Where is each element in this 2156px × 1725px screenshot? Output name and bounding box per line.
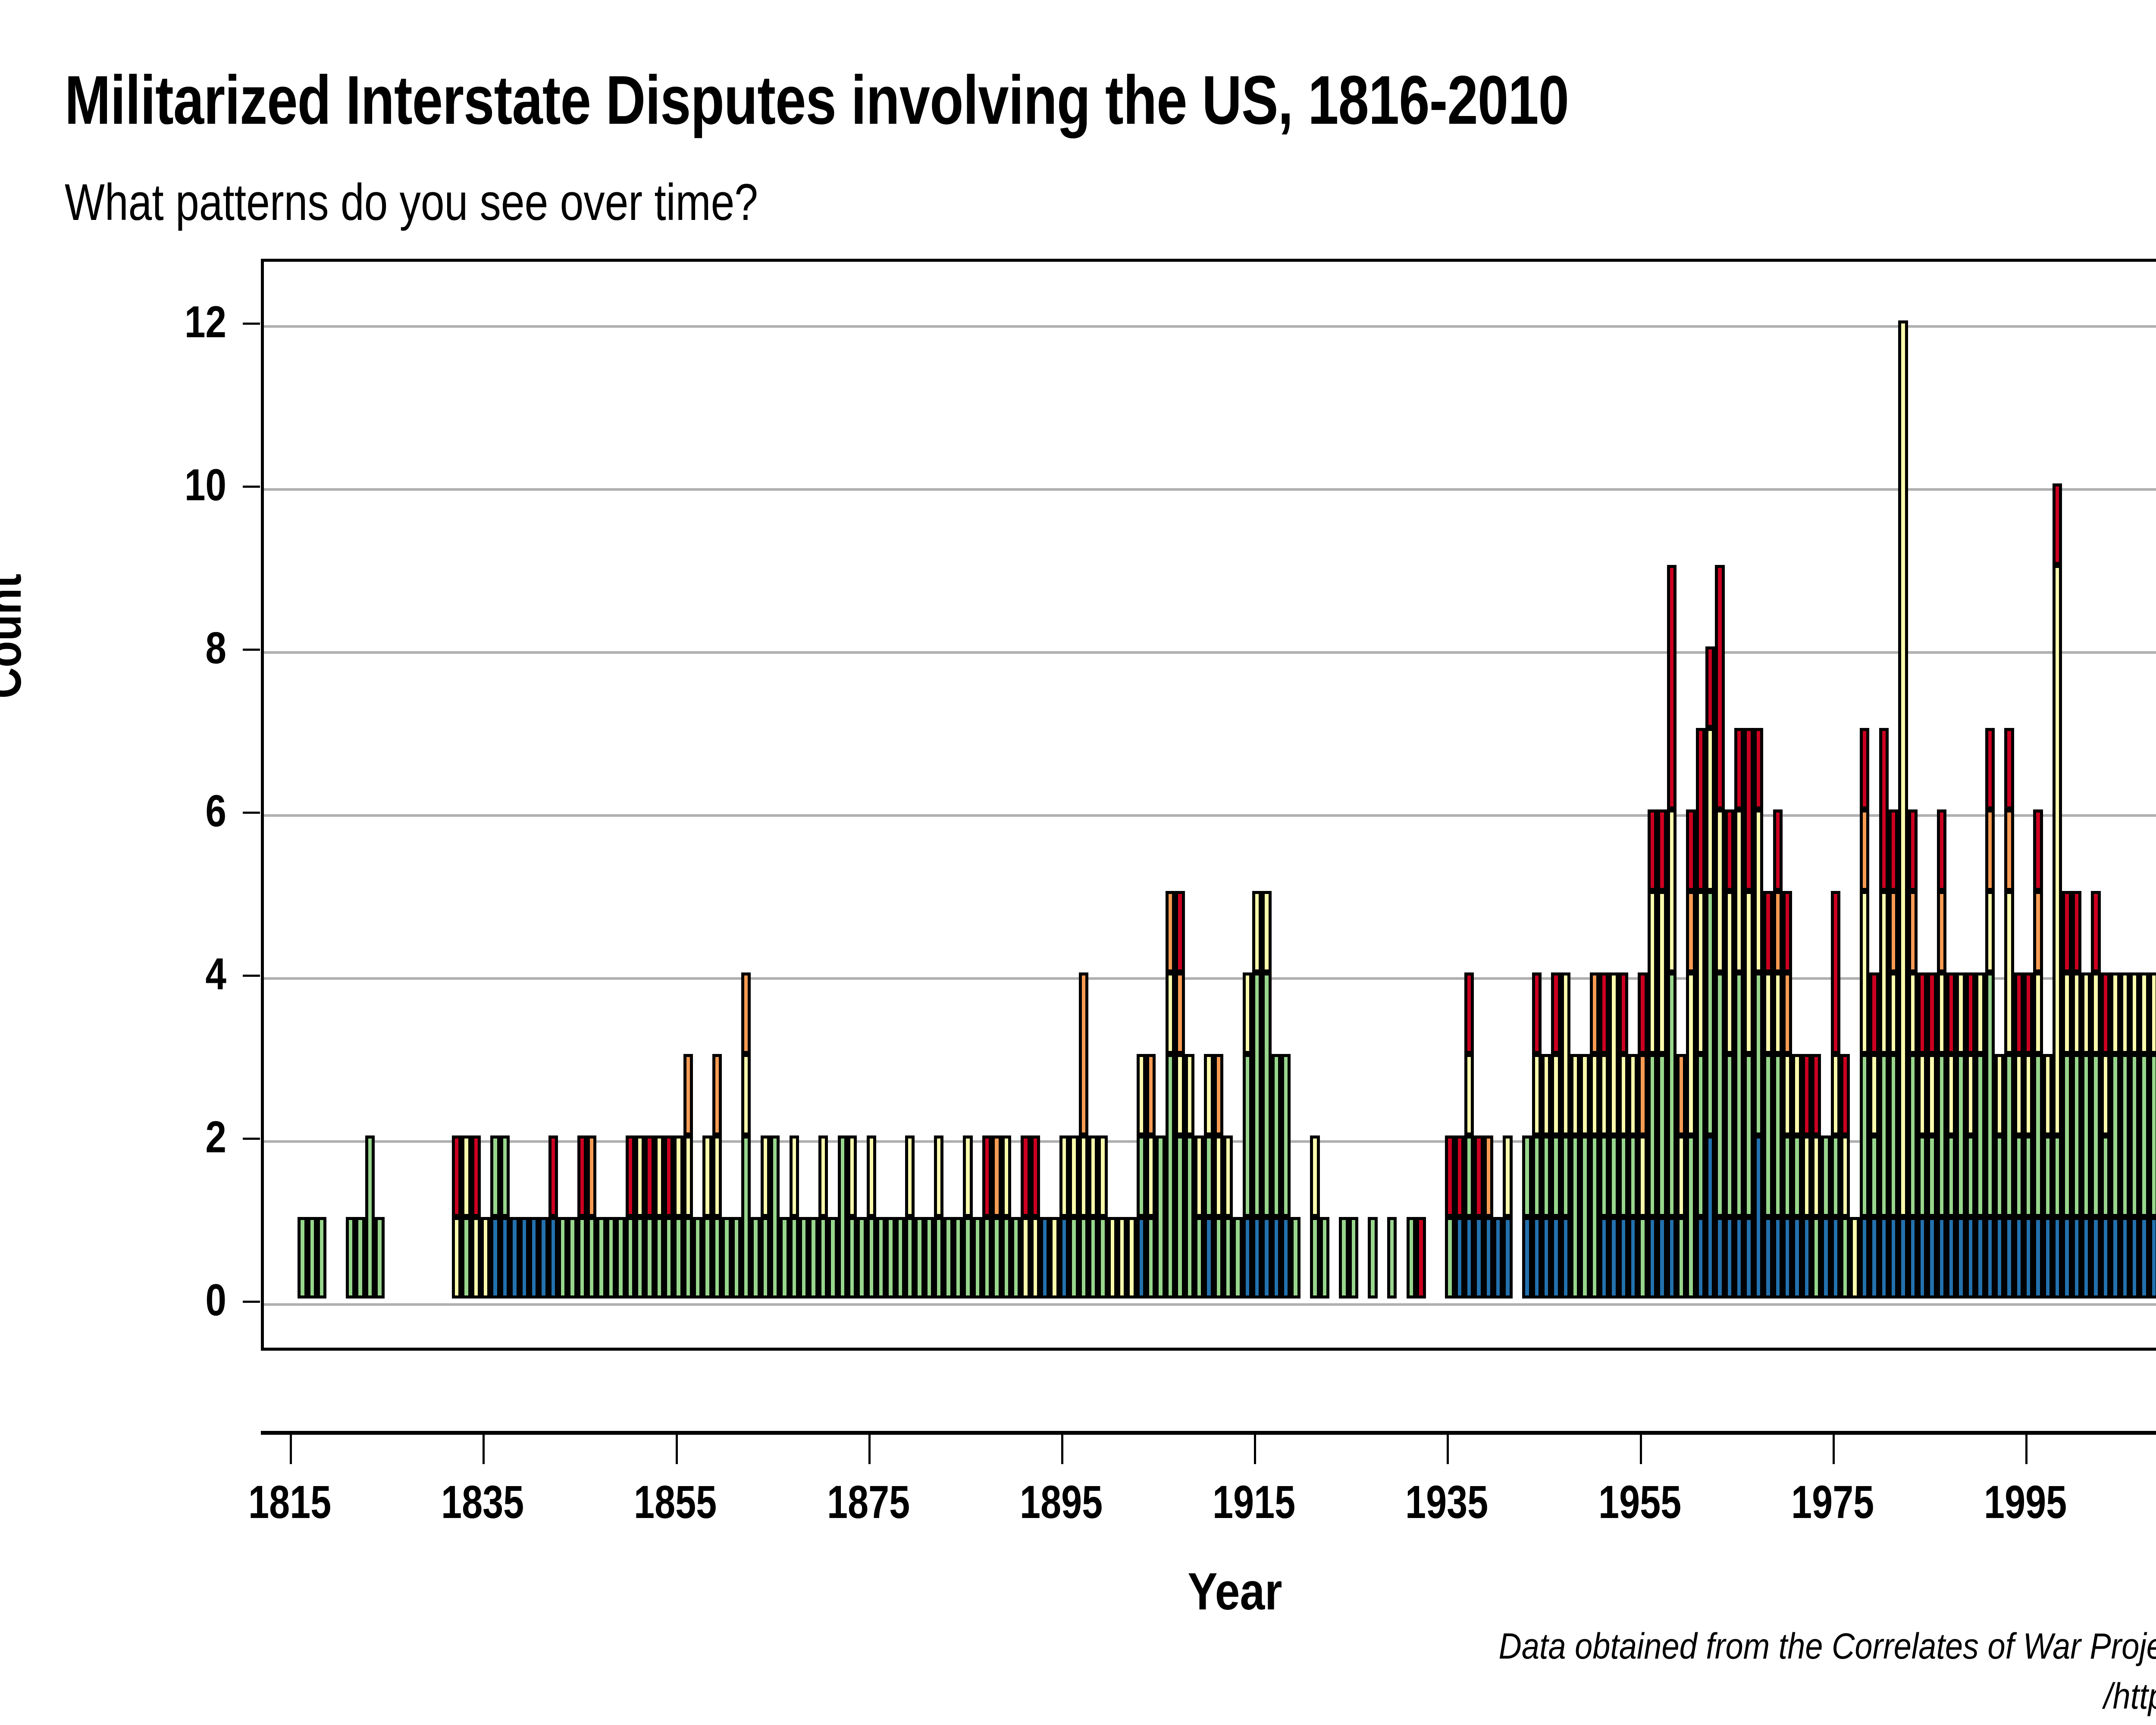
bar-segment-level-3 — [850, 1138, 854, 1214]
bar-segment-level-3 — [1583, 1057, 1586, 1132]
bar-segment-level-4 — [1091, 1220, 1095, 1295]
bar-1991 — [1985, 728, 1995, 1298]
bar-segment-level-4 — [1689, 1138, 1692, 1295]
bar-segment-level-3 — [1188, 1057, 1191, 1132]
bar-1896 — [1069, 1135, 1078, 1298]
bar-segment-level-4 — [1573, 1138, 1577, 1295]
bar-segment-level-3 — [1988, 894, 1992, 969]
bar-segment-level-1 — [1863, 731, 1866, 806]
bar-1860 — [722, 1217, 731, 1298]
bar-1893 — [1040, 1217, 1050, 1298]
bar-1915 — [1252, 891, 1262, 1298]
bar-segment-level-4 — [570, 1220, 574, 1295]
bar-1907 — [1175, 891, 1185, 1298]
bar-segment-level-3 — [2094, 975, 2097, 1051]
bar-segment-level-5 — [1255, 1220, 1259, 1295]
bar-segment-level-4 — [1824, 1138, 1827, 1214]
bar-segment-level-3 — [1631, 1057, 1635, 1132]
y-tick-label-6: 6 — [118, 786, 226, 837]
bar-segment-level-4 — [783, 1220, 786, 1295]
bar-segment-level-3 — [1217, 1138, 1220, 1214]
bar-segment-level-4 — [1593, 1138, 1596, 1295]
bar-segment-level-4 — [1998, 1138, 2001, 1214]
bar-segment-level-1 — [455, 1138, 458, 1214]
bar-segment-level-5 — [1554, 1220, 1557, 1295]
bar-segment-level-3 — [2027, 1057, 2030, 1132]
bar-2008 — [2149, 972, 2156, 1298]
bar-segment-level-5 — [1670, 1220, 1673, 1295]
y-tick-mark-10 — [243, 486, 260, 488]
bar-segment-level-4 — [1255, 975, 1259, 1214]
bar-segment-level-4 — [619, 1220, 622, 1295]
bar-segment-level-3 — [1197, 1138, 1201, 1214]
bar-1937 — [1464, 972, 1474, 1298]
x-tick-label-1995: 1995 — [1939, 1475, 2112, 1529]
bar-segment-level-2 — [1680, 1057, 1683, 1132]
bar-1833 — [461, 1135, 471, 1298]
bar-segment-level-3 — [1911, 975, 1915, 1051]
bar-segment-level-4 — [686, 1220, 690, 1295]
x-tick-mark-1875 — [868, 1435, 871, 1464]
bar-1910 — [1204, 1054, 1213, 1298]
bar-1882 — [934, 1135, 943, 1298]
bar-segment-level-1 — [1708, 649, 1712, 725]
bar-segment-level-3 — [2007, 894, 2011, 1051]
bar-segment-level-5 — [1930, 1220, 1934, 1295]
x-tick-label-text: 1915 — [1213, 1475, 1295, 1529]
bar-segment-level-3 — [1718, 812, 1721, 969]
bar-1874 — [857, 1217, 866, 1298]
bar-segment-level-3 — [1814, 1138, 1818, 1214]
bar-segment-level-3 — [1545, 1057, 1548, 1132]
bar-segment-level-4 — [1371, 1220, 1374, 1295]
bar-segment-level-4 — [1217, 1220, 1220, 1295]
bar-segment-level-5 — [2113, 1220, 2117, 1295]
bar-segment-level-3 — [1766, 975, 1770, 1051]
bar-segment-level-4 — [1641, 1220, 1644, 1295]
bar-segment-level-3 — [1921, 1057, 1924, 1132]
bar-segment-level-1 — [667, 1138, 671, 1214]
bar-segment-level-3 — [1169, 975, 1172, 1051]
bar-segment-level-4 — [1843, 1220, 1847, 1295]
bar-segment-level-5 — [1728, 1220, 1731, 1295]
bar-1842 — [548, 1135, 558, 1298]
bar-segment-level-4 — [2123, 1057, 2127, 1214]
bar-1902 — [1127, 1217, 1136, 1298]
x-tick-label-1915: 1915 — [1168, 1475, 1340, 1529]
bar-segment-level-4 — [1535, 1138, 1539, 1214]
bar-segment-level-3 — [2084, 975, 2088, 1051]
bar-1975 — [1831, 891, 1840, 1298]
bar-segment-level-1 — [1921, 975, 1924, 1051]
bar-segment-level-3 — [686, 1138, 690, 1214]
bar-segment-level-3 — [1246, 975, 1249, 1051]
bar-segment-level-5 — [1969, 1220, 1972, 1295]
chart-page: Militarized Interstate Disputes involvin… — [0, 0, 2156, 1725]
bar-segment-level-3 — [658, 1138, 661, 1214]
bar-segment-level-1 — [985, 1138, 989, 1214]
bar-segment-level-5 — [2046, 1220, 2049, 1295]
bar-segment-level-4 — [2007, 1057, 2011, 1214]
bar-segment-level-4 — [2046, 1138, 2049, 1214]
bar-segment-level-5 — [1140, 1220, 1143, 1295]
bar-1857 — [693, 1217, 702, 1298]
bar-segment-level-3 — [1111, 1220, 1114, 1295]
bar-segment-level-3 — [1949, 1057, 1953, 1132]
bar-1908 — [1185, 1054, 1194, 1298]
bar-1974 — [1821, 1135, 1830, 1298]
bar-segment-level-4 — [1178, 1138, 1181, 1295]
bar-segment-level-1 — [1651, 812, 1654, 888]
bar-segment-level-3 — [1795, 1057, 1799, 1132]
bar-segment-level-1 — [1535, 975, 1539, 1051]
bar-1906 — [1166, 891, 1175, 1298]
caption-line-2: /http://cow.dss.ucdavis.edu/data-sets/MI… — [1334, 1672, 2156, 1722]
bar-segment-level-5 — [2084, 1220, 2088, 1295]
bar-segment-level-5 — [2036, 1220, 2040, 1295]
bar-segment-level-5 — [1795, 1220, 1799, 1295]
y-tick-label-2: 2 — [118, 1112, 226, 1163]
bar-segment-level-5 — [1699, 1220, 1702, 1295]
bar-1948 — [1570, 1054, 1580, 1298]
bar-1852 — [645, 1135, 654, 1298]
bar-segment-level-4 — [1863, 1057, 1866, 1214]
bar-segment-level-1 — [1419, 1220, 1423, 1295]
bar-1870 — [818, 1135, 828, 1298]
bar-1891 — [1021, 1135, 1030, 1298]
bar-segment-level-3 — [793, 1138, 796, 1214]
bar-segment-level-1 — [1892, 812, 1895, 888]
bar-1837 — [500, 1135, 510, 1298]
bar-1946 — [1551, 972, 1561, 1298]
bar-1950 — [1590, 972, 1599, 1298]
bar-segment-level-1 — [629, 1138, 632, 1214]
bar-segment-level-2 — [1593, 975, 1596, 1051]
bar-segment-level-4 — [599, 1220, 603, 1295]
bar-segment-level-4 — [956, 1220, 960, 1295]
bar-segment-level-4 — [368, 1138, 372, 1295]
bar-segment-level-5 — [1622, 1220, 1625, 1295]
bar-segment-level-3 — [1998, 1057, 2001, 1132]
bar-segment-level-4 — [1294, 1220, 1297, 1295]
bar-segment-level-4 — [1284, 1057, 1288, 1214]
bar-2001 — [2081, 972, 2091, 1298]
bar-segment-level-3 — [1091, 1138, 1095, 1214]
bar-segment-level-4 — [1467, 1138, 1471, 1214]
bar-segment-level-1 — [1776, 812, 1780, 888]
bar-segment-level-4 — [918, 1220, 921, 1295]
y-tick-mark-8 — [243, 649, 260, 651]
y-tick-mark-0 — [243, 1301, 260, 1303]
bar-segment-level-5 — [1477, 1220, 1480, 1295]
bar-segment-level-4 — [609, 1220, 613, 1295]
bar-1859 — [712, 1054, 722, 1298]
bar-segment-level-1 — [2104, 975, 2107, 1051]
bar-segment-level-1 — [1689, 812, 1692, 888]
bar-1846 — [587, 1135, 596, 1298]
bar-segment-level-4 — [985, 1220, 989, 1295]
bar-segment-level-5 — [1564, 1220, 1567, 1295]
bar-1917 — [1272, 1054, 1281, 1298]
bar-segment-level-4 — [2133, 1057, 2136, 1214]
bar-segment-level-5 — [2017, 1220, 2021, 1295]
bar-segment-level-4 — [638, 1220, 642, 1295]
bar-segment-level-4 — [1921, 1138, 1924, 1214]
bar-segment-level-4 — [1246, 1057, 1249, 1214]
bar-1972 — [1802, 1054, 1811, 1298]
bar-1855 — [674, 1135, 683, 1298]
bar-1986 — [1937, 809, 1946, 1298]
bar-segment-level-1 — [1969, 975, 1972, 1051]
bar-segment-level-4 — [1149, 1220, 1153, 1295]
bar-1989 — [1966, 972, 1975, 1298]
bar-segment-level-4 — [658, 1220, 661, 1295]
bar-segment-level-5 — [1207, 1220, 1210, 1295]
bar-segment-level-5 — [1467, 1220, 1471, 1295]
x-tick-label-text: 1975 — [1791, 1475, 1874, 1529]
bar-1984 — [1918, 972, 1927, 1298]
bar-segment-level-4 — [1959, 1057, 1962, 1214]
bar-segment-level-4 — [1892, 1057, 1895, 1214]
bar-segment-level-3 — [1689, 975, 1692, 1132]
bar-segment-level-1 — [1940, 812, 1943, 888]
bar-segment-level-1 — [1930, 975, 1934, 1051]
bar-segment-level-2 — [1217, 1057, 1220, 1132]
x-tick-label-text: 1995 — [1984, 1475, 2067, 1529]
x-tick-mark-1915 — [1254, 1435, 1256, 1464]
bar-1898 — [1088, 1135, 1098, 1298]
bar-segment-level-1 — [2056, 486, 2059, 562]
bar-segment-level-3 — [1602, 1057, 1606, 1132]
bar-segment-level-3 — [966, 1138, 969, 1214]
bar-segment-level-4 — [1169, 1057, 1172, 1295]
bar-segment-level-5 — [1892, 1220, 1895, 1295]
bar-segment-level-4 — [1140, 1138, 1143, 1214]
bar-segment-level-1 — [1766, 894, 1770, 969]
bar-segment-level-5 — [2056, 1220, 2059, 1295]
bar-1899 — [1098, 1135, 1107, 1298]
bar-segment-level-1 — [648, 1138, 651, 1214]
bar-segment-level-5 — [1757, 1138, 1760, 1295]
bar-segment-level-1 — [1660, 812, 1664, 888]
bar-segment-level-4 — [1728, 1057, 1731, 1214]
bar-segment-level-5 — [2104, 1220, 2107, 1295]
bar-segment-level-4 — [1949, 1138, 1953, 1214]
bar-1982 — [1898, 320, 1908, 1298]
bar-1970 — [1783, 891, 1792, 1298]
bar-segment-level-5 — [1602, 1220, 1606, 1295]
bar-1957 — [1657, 809, 1667, 1298]
bar-1965 — [1734, 728, 1744, 1298]
bar-1978 — [1860, 728, 1869, 1298]
bar-1998 — [2053, 483, 2062, 1298]
bar-1836 — [490, 1135, 500, 1298]
bar-segment-level-1 — [1834, 894, 1837, 1051]
x-tick-label-1815: 1815 — [204, 1475, 376, 1529]
bar-segment-level-1 — [1467, 975, 1471, 1051]
bar-segment-level-3 — [1622, 1057, 1625, 1132]
bar-1903 — [1137, 1054, 1146, 1298]
bar-segment-level-3 — [1573, 1057, 1577, 1132]
bar-1925 — [1349, 1217, 1358, 1298]
bar-1853 — [655, 1135, 664, 1298]
bar-segment-level-1 — [1757, 731, 1760, 806]
bar-segment-level-4 — [1390, 1220, 1394, 1295]
y-tick-mark-12 — [243, 323, 260, 325]
bar-segment-level-5 — [1660, 1220, 1664, 1295]
bar-segment-level-5 — [1737, 1220, 1741, 1295]
bar-segment-level-4 — [561, 1220, 564, 1295]
bar-segment-level-1 — [2017, 975, 2021, 1051]
bar-segment-level-1 — [1911, 812, 1915, 888]
x-tick-label-1835: 1835 — [396, 1475, 569, 1529]
bar-segment-level-4 — [1988, 975, 1992, 1214]
bar-1854 — [664, 1135, 674, 1298]
bar-segment-level-4 — [1236, 1220, 1239, 1295]
bar-segment-level-4 — [1265, 975, 1268, 1214]
bar-segment-level-3 — [1554, 1057, 1557, 1132]
bar-segment-level-4 — [1101, 1220, 1104, 1295]
bar-segment-level-4 — [2056, 1138, 2059, 1214]
bar-segment-level-3 — [908, 1138, 912, 1214]
bar-segment-level-1 — [1034, 1138, 1037, 1214]
bar-segment-level-1 — [1805, 1057, 1808, 1132]
bar-1997 — [2043, 1054, 2053, 1298]
bar-segment-level-3 — [1612, 975, 1615, 1132]
bar-segment-level-4 — [946, 1220, 950, 1295]
bar-1941 — [1503, 1135, 1512, 1298]
bar-segment-level-1 — [1747, 731, 1750, 888]
bar-segment-level-3 — [1969, 1057, 1972, 1132]
bar-1924 — [1339, 1217, 1348, 1298]
page-title: Militarized Interstate Disputes involvin… — [65, 60, 1569, 140]
bar-segment-level-4 — [2152, 1057, 2156, 1214]
bar-segment-level-4 — [995, 1220, 998, 1295]
bar-segment-level-5 — [513, 1220, 516, 1295]
bar-segment-level-4 — [1197, 1220, 1201, 1295]
bar-segment-level-4 — [1545, 1138, 1548, 1214]
bar-segment-level-3 — [1930, 1057, 1934, 1132]
bar-1878 — [896, 1217, 905, 1298]
bar-segment-level-5 — [1805, 1220, 1808, 1295]
x-tick-label-1975: 1975 — [1746, 1475, 1919, 1529]
bar-segment-level-5 — [1824, 1220, 1827, 1295]
bar-1909 — [1194, 1135, 1204, 1298]
bar-segment-level-3 — [1786, 1057, 1789, 1132]
bar-segment-level-4 — [966, 1220, 969, 1295]
bar-segment-level-5 — [1872, 1220, 1876, 1295]
bar-segment-level-4 — [976, 1220, 979, 1295]
bar-segment-level-4 — [754, 1220, 757, 1295]
bar-segment-level-3 — [1872, 1057, 1876, 1132]
bar-segment-level-3 — [744, 1057, 748, 1132]
bar-2003 — [2101, 972, 2110, 1298]
bar-segment-level-3 — [1940, 975, 1943, 1051]
bar-segment-level-5 — [1949, 1220, 1953, 1295]
bar-1929 — [1387, 1217, 1397, 1298]
bar-segment-level-3 — [1062, 1138, 1066, 1214]
bar-segment-level-1 — [2075, 894, 2078, 969]
bar-segment-level-4 — [310, 1220, 314, 1295]
bar-1967 — [1754, 728, 1763, 1298]
x-tick-label-1955: 1955 — [1554, 1475, 1726, 1529]
bar-1904 — [1146, 1054, 1156, 1298]
bar-segment-level-3 — [1207, 1057, 1210, 1132]
bar-1875 — [867, 1135, 876, 1298]
bar-segment-level-4 — [358, 1220, 362, 1295]
bar-segment-level-5 — [1988, 1220, 1992, 1295]
bar-segment-level-4 — [889, 1220, 892, 1295]
bar-segment-level-4 — [1622, 1138, 1625, 1214]
bar-segment-level-4 — [937, 1220, 940, 1295]
bar-2007 — [2139, 972, 2149, 1298]
bar-segment-level-3 — [764, 1138, 767, 1214]
bar-segment-level-3 — [1863, 894, 1866, 1051]
bar-segment-level-4 — [773, 1138, 777, 1295]
x-tick-label-text: 1895 — [1020, 1475, 1103, 1529]
bar-segment-level-3 — [1072, 1138, 1075, 1214]
bar-segment-level-4 — [860, 1220, 863, 1295]
bar-segment-level-1 — [474, 1138, 478, 1214]
bar-1947 — [1561, 972, 1570, 1298]
bar-2002 — [2091, 891, 2100, 1298]
bar-segment-level-5 — [1284, 1220, 1288, 1295]
bar-segment-level-5 — [493, 1220, 497, 1295]
bar-segment-level-3 — [2113, 975, 2117, 1051]
bar-1960 — [1686, 809, 1695, 1298]
x-tick-label-text: 1875 — [827, 1475, 910, 1529]
bar-1940 — [1493, 1217, 1503, 1298]
bar-1821 — [346, 1217, 355, 1298]
bar-segment-level-3 — [2104, 1057, 2107, 1132]
bar-1897 — [1079, 972, 1088, 1298]
bar-segment-level-4 — [1680, 1220, 1683, 1295]
bar-segment-level-3 — [2075, 975, 2078, 1051]
bar-1956 — [1648, 809, 1657, 1298]
bar-segment-level-5 — [1998, 1220, 2001, 1295]
bar-segment-level-4 — [378, 1220, 381, 1295]
bar-segment-level-5 — [1612, 1220, 1615, 1295]
bar-segment-level-4 — [1072, 1220, 1075, 1295]
bar-segment-level-5 — [2142, 1220, 2146, 1295]
bar-1987 — [1946, 972, 1956, 1298]
bar-1856 — [683, 1054, 693, 1298]
bar-segment-level-3 — [1178, 1057, 1181, 1132]
bar-segment-level-1 — [580, 1138, 584, 1214]
bar-segment-level-4 — [2027, 1138, 2030, 1214]
bar-segment-level-3 — [2152, 975, 2156, 1051]
bar-1993 — [2004, 728, 2014, 1298]
bar-segment-level-5 — [1631, 1220, 1635, 1295]
bar-segment-level-4 — [1352, 1220, 1355, 1295]
bar-1858 — [702, 1135, 712, 1298]
bar-1894 — [1050, 1217, 1059, 1298]
bar-1911 — [1214, 1054, 1223, 1298]
bar-segment-level-3 — [484, 1220, 487, 1295]
bar-segment-level-4 — [590, 1220, 593, 1295]
bar-segment-level-4 — [320, 1220, 323, 1295]
bar-segment-level-4 — [928, 1220, 931, 1295]
bar-segment-level-4 — [705, 1220, 709, 1295]
bar-segment-level-3 — [1708, 731, 1712, 888]
bar-segment-level-1 — [1554, 975, 1557, 1051]
bar-segment-level-1 — [2036, 812, 2040, 888]
bar-segment-level-4 — [879, 1220, 883, 1295]
bar-segment-level-4 — [1226, 1220, 1230, 1295]
bar-segment-level-2 — [1178, 975, 1181, 1051]
bar-1990 — [1975, 972, 1985, 1298]
bar-segment-level-5 — [2027, 1220, 2030, 1295]
